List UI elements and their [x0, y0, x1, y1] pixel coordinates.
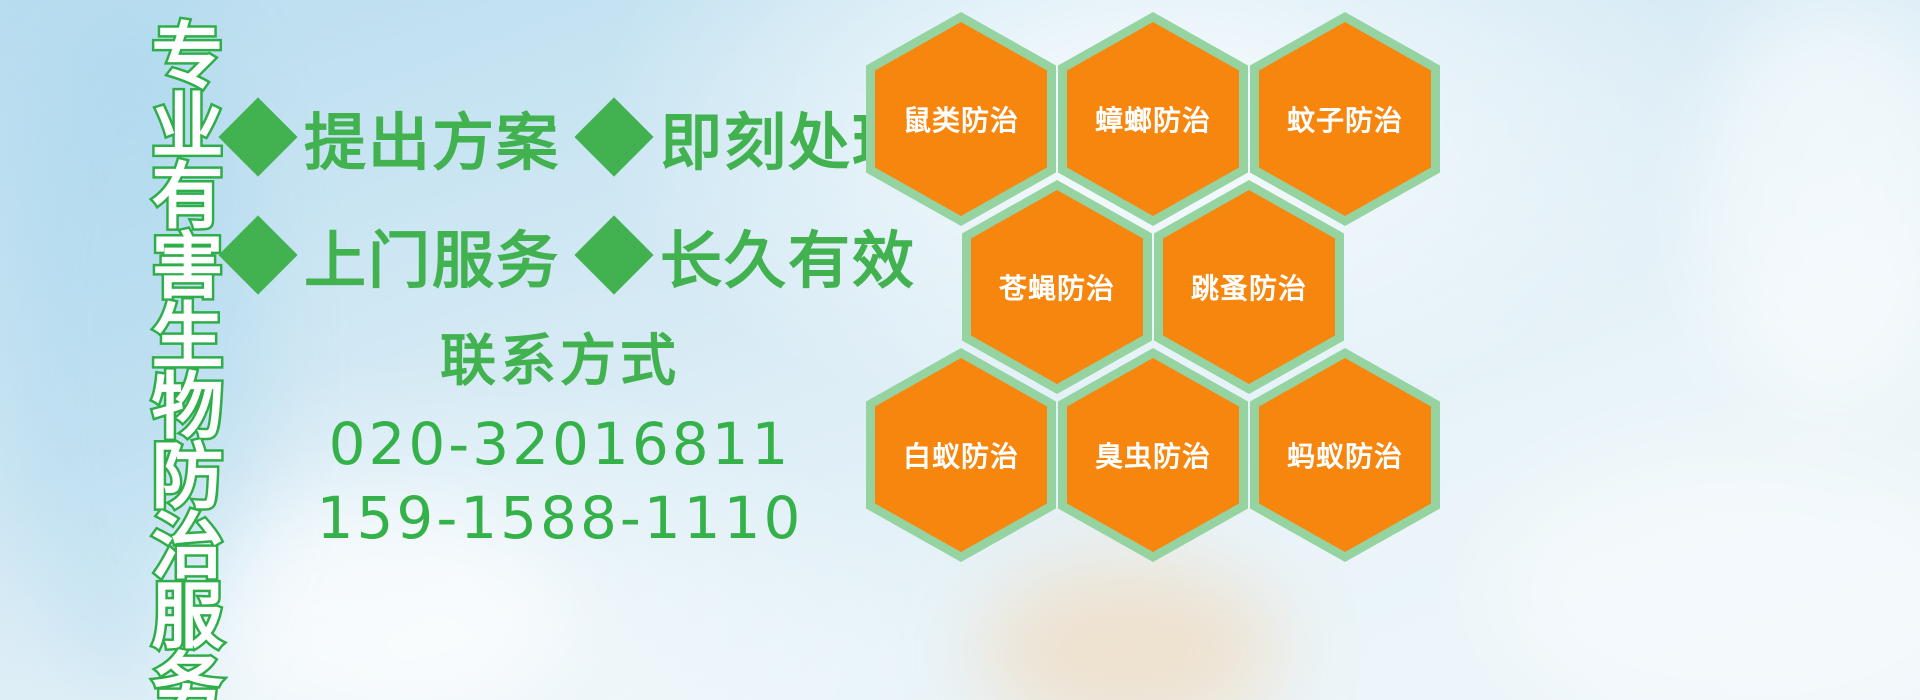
service-hex-cockroach[interactable]: 蟑螂防治	[1058, 12, 1248, 226]
hex-inner-fill: 蚂蚁防治	[1259, 358, 1431, 552]
contact-block: 联系方式 020-32016811 159-1588-1110	[300, 316, 820, 555]
service-label-rodent: 鼠类防治	[903, 99, 1019, 139]
diamond-bullet-icon	[574, 215, 653, 294]
service-label-mosquito: 蚊子防治	[1287, 99, 1403, 139]
feature-label-onsite-service: 上门服务	[304, 210, 560, 300]
feature-row-bottom: 上门服务 长久有效	[230, 196, 870, 314]
service-hex-termite[interactable]: 白蚁防治	[866, 348, 1056, 562]
background-haze-top-right	[1700, 0, 1920, 420]
service-hex-mosquito[interactable]: 蚊子防治	[1250, 12, 1440, 226]
contact-phone-mobile[interactable]: 159-1588-1110	[300, 481, 820, 555]
service-label-flea: 跳蚤防治	[1191, 267, 1307, 307]
diamond-bullet-icon	[574, 97, 653, 176]
service-hex-rodent[interactable]: 鼠类防治	[866, 12, 1056, 226]
diamond-bullet-icon	[218, 97, 297, 176]
service-hex-ant[interactable]: 蚂蚁防治	[1250, 348, 1440, 562]
hex-inner-fill: 臭虫防治	[1067, 358, 1239, 552]
pest-control-banner: 专业有害生物防治服务 提出方案 即刻处理 上门服务 长久有效 联系方式 020-…	[0, 0, 1920, 700]
service-label-ant: 蚂蚁防治	[1287, 435, 1403, 475]
hex-inner-fill: 苍蝇防治	[971, 190, 1143, 384]
hex-inner-fill: 鼠类防治	[875, 22, 1047, 216]
contact-phone-landline[interactable]: 020-32016811	[300, 407, 820, 481]
hex-inner-fill: 蟑螂防治	[1067, 22, 1239, 216]
hex-inner-fill: 蚊子防治	[1259, 22, 1431, 216]
hex-inner-fill: 白蚁防治	[875, 358, 1047, 552]
service-label-termite: 白蚁防治	[903, 435, 1019, 475]
service-label-bedbug: 臭虫防治	[1095, 435, 1211, 475]
background-haze-bottom-center	[980, 560, 1280, 700]
diamond-bullet-icon	[218, 215, 297, 294]
feature-label-propose-plan: 提出方案	[304, 92, 560, 182]
service-label-cockroach: 蟑螂防治	[1095, 99, 1211, 139]
vertical-headline: 专业有害生物防治服务	[108, 18, 216, 578]
service-hex-fly[interactable]: 苍蝇防治	[962, 180, 1152, 394]
service-hex-flea[interactable]: 跳蚤防治	[1154, 180, 1344, 394]
hex-inner-fill: 跳蚤防治	[1163, 190, 1335, 384]
background-haze-bottom-right	[1480, 440, 1920, 700]
service-label-fly: 苍蝇防治	[999, 267, 1115, 307]
service-hex-bedbug[interactable]: 臭虫防治	[1058, 348, 1248, 562]
service-hex-grid: 鼠类防治 蟑螂防治 蚊子防治 苍蝇防治 跳蚤防治 白蚁防治	[862, 8, 1462, 568]
feature-list: 提出方案 即刻处理 上门服务 长久有效	[230, 78, 870, 314]
feature-row-top: 提出方案 即刻处理	[230, 78, 870, 196]
contact-title: 联系方式	[300, 316, 820, 397]
